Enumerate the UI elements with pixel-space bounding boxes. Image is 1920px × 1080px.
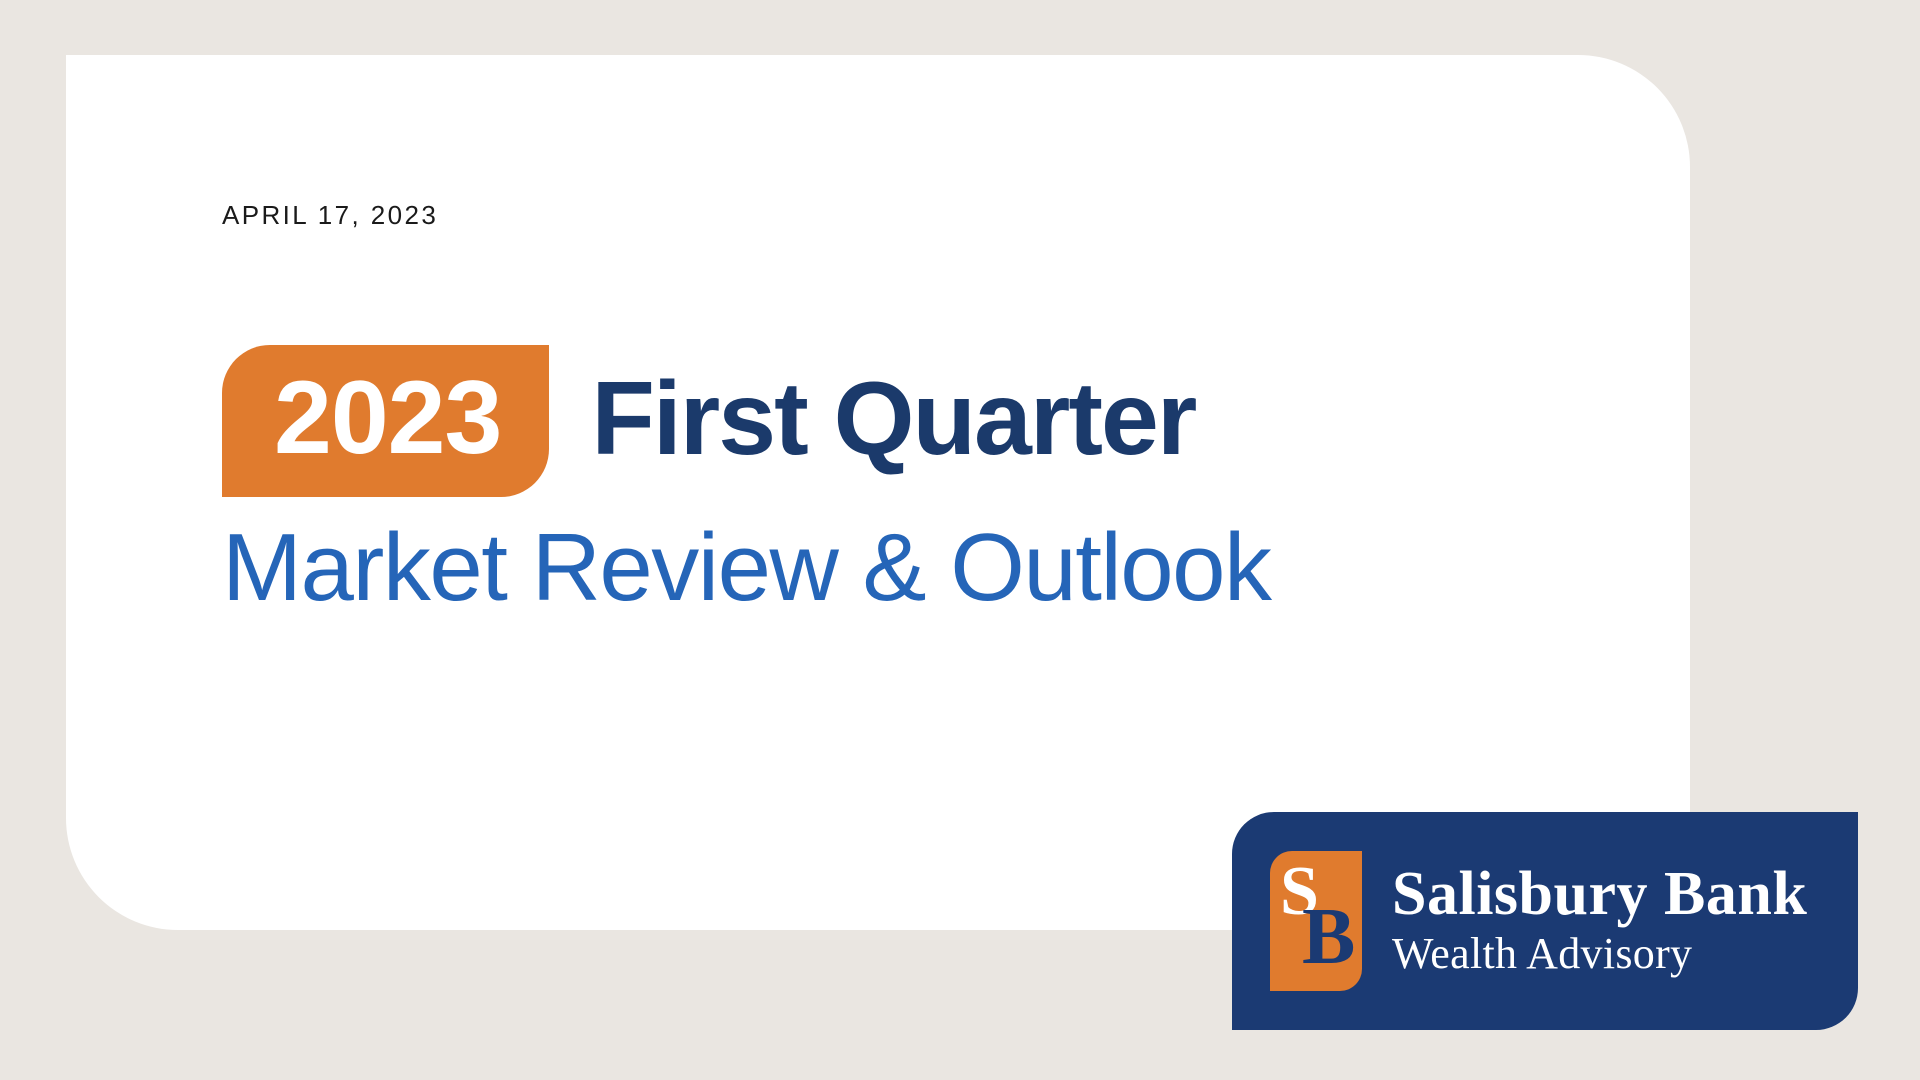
logo-tagline: Wealth Advisory	[1392, 930, 1807, 978]
sb-monogram-icon: S B	[1270, 851, 1362, 991]
year-badge-label: 2023	[274, 366, 501, 470]
headline: 2023 First Quarter	[222, 345, 1195, 497]
year-badge: 2023	[222, 345, 549, 497]
headline-main-text: First Quarter	[591, 367, 1195, 471]
subtitle-text: Market Review & Outlook	[222, 520, 1271, 616]
logo-wordmark: Salisbury Bank Wealth Advisory	[1392, 863, 1807, 979]
publication-date: APRIL 17, 2023	[222, 200, 438, 231]
monogram-letter-b: B	[1302, 897, 1355, 977]
logo-bank-name: Salisbury Bank	[1392, 863, 1807, 926]
salisbury-bank-logo: S B Salisbury Bank Wealth Advisory	[1232, 812, 1858, 1030]
slide-canvas: APRIL 17, 2023 2023 First Quarter Market…	[0, 0, 1920, 1080]
